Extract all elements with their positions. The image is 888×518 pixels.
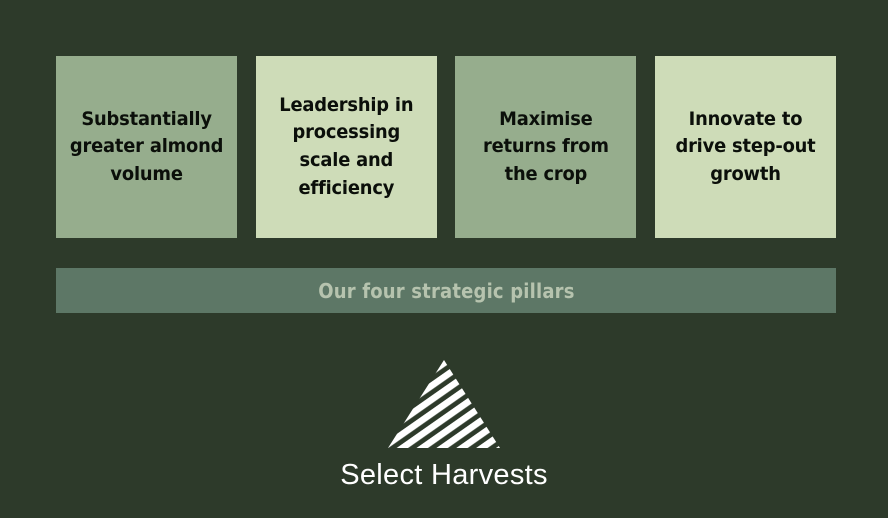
pillar-card-4-text: Innovate to drive step-out growth (675, 106, 815, 189)
pillar-card-2-text: Leadership in processing scale and effic… (279, 92, 413, 202)
pillar-card-1-text: Substantially greater almond volume (70, 106, 223, 189)
pillar-card-3[interactable]: Maximise returns from the crop (455, 56, 636, 238)
strategic-pillars-banner: Our four strategic pillars (56, 268, 836, 313)
pillar-card-2[interactable]: Leadership in processing scale and effic… (256, 56, 437, 238)
company-logo: Select Harvests (0, 358, 888, 490)
pillar-card-1[interactable]: Substantially greater almond volume (56, 56, 237, 238)
banner-label: Our four strategic pillars (318, 279, 574, 303)
pillar-card-3-text: Maximise returns from the crop (483, 106, 609, 189)
logo-wordmark: Select Harvests (340, 461, 548, 490)
striped-triangle-logo-icon (386, 358, 502, 450)
strategic-pillars-row: Substantially greater almond volume Lead… (56, 56, 836, 238)
pillar-card-4[interactable]: Innovate to drive step-out growth (655, 56, 836, 238)
slide-canvas: Substantially greater almond volume Lead… (0, 0, 888, 518)
